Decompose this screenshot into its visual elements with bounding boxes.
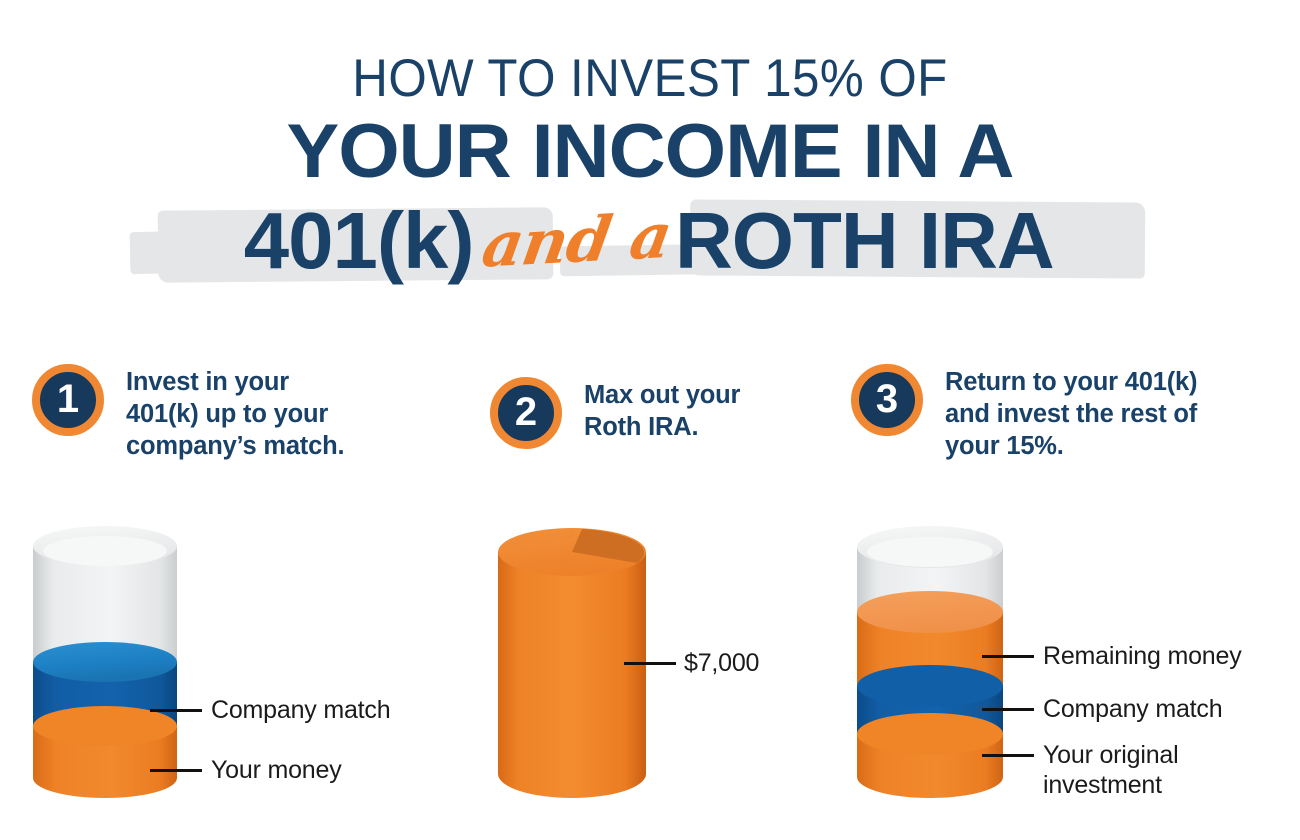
leader-line-your-money	[150, 769, 202, 772]
cylinder-chart-3	[857, 526, 1003, 798]
leader-line-original-investment	[982, 754, 1034, 757]
title-401k: 401(k)	[244, 195, 474, 287]
leader-line-remaining-money	[982, 655, 1034, 658]
title-script-and: and a	[463, 190, 683, 293]
step-2-badge: 2	[490, 377, 562, 449]
title-line-3-wrapper: 401(k)and aROTH IRA	[0, 195, 1300, 287]
step-1-badge: 1	[32, 364, 104, 436]
cylinder-chart-1	[33, 526, 177, 798]
callout-your-money: Your money	[211, 755, 342, 785]
leader-line-7000	[624, 662, 676, 665]
step-3-text: Return to your 401(k) and invest the res…	[945, 364, 1197, 462]
title-roth-ira: ROTH IRA	[675, 196, 1054, 285]
leader-line-company-match-3	[982, 708, 1034, 711]
step-2-text: Max out your Roth IRA.	[584, 377, 740, 443]
callout-original-investment: Your original investment	[1043, 740, 1178, 800]
page-title: HOW TO INVEST 15% OF YOUR INCOME IN A 40…	[0, 52, 1300, 287]
cylinder-1-segment-your-money	[33, 706, 177, 798]
callout-company-match-1: Company match	[211, 695, 390, 725]
title-line-1: HOW TO INVEST 15% OF	[46, 52, 1255, 105]
title-line-3: 401(k)and aROTH IRA	[0, 195, 1300, 287]
step-1: 1 Invest in your 401(k) up to your compa…	[32, 364, 344, 462]
title-line-2: YOUR INCOME IN A	[0, 111, 1300, 193]
step-3: 3 Return to your 401(k) and invest the r…	[851, 364, 1197, 462]
callout-company-match-3: Company match	[1043, 694, 1222, 724]
leader-line-company-match-1	[150, 709, 202, 712]
step-1-text: Invest in your 401(k) up to your company…	[126, 364, 344, 462]
step-3-badge: 3	[851, 364, 923, 436]
callout-remaining-money: Remaining money	[1043, 641, 1242, 671]
callout-roth-ira-value: $7,000	[684, 648, 759, 678]
step-2: 2 Max out your Roth IRA.	[490, 377, 740, 449]
